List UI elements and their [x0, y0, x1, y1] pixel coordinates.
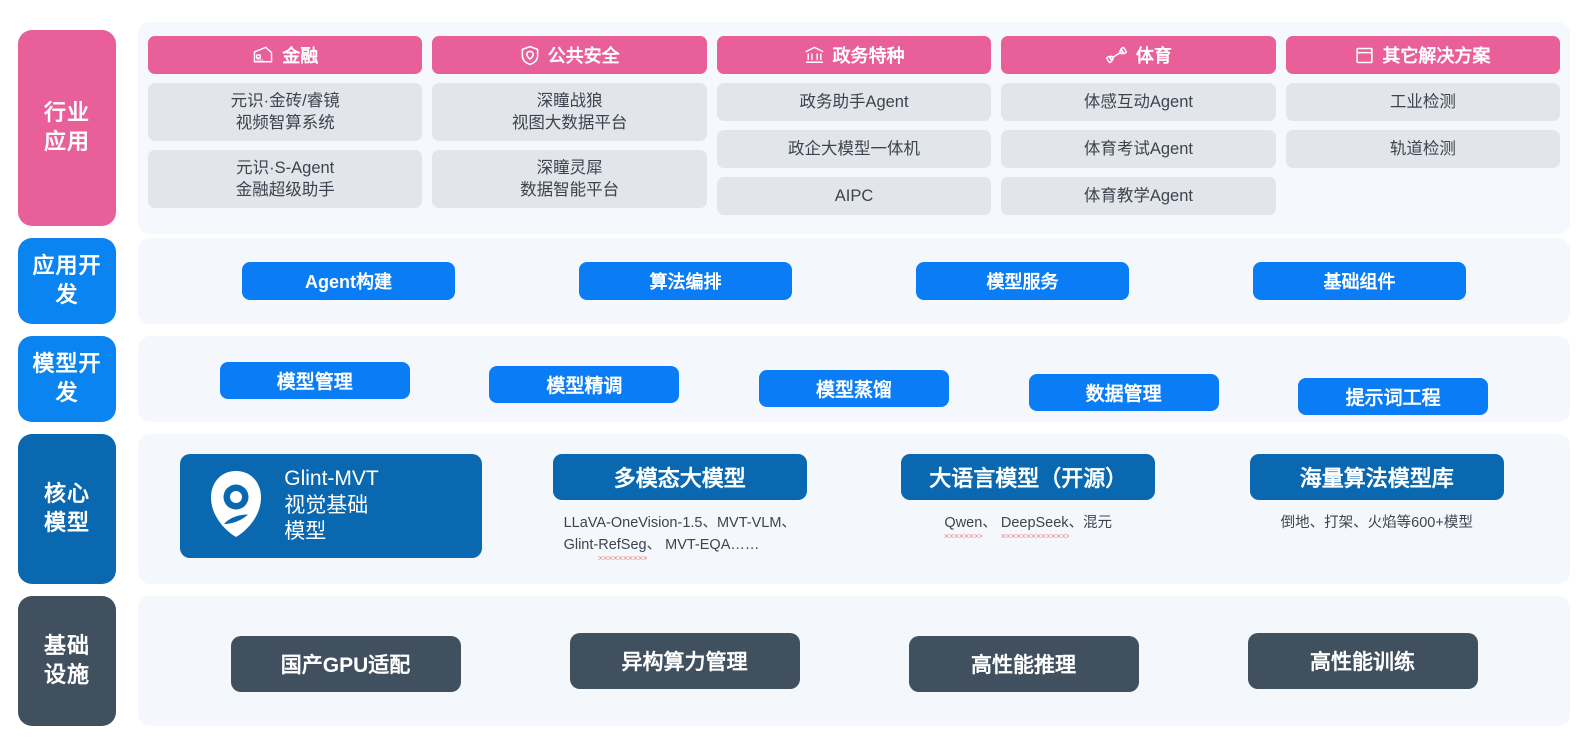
- industry-item[interactable]: 轨道检测: [1286, 130, 1560, 168]
- core-model-multimodal-button[interactable]: 多模态大模型: [553, 454, 807, 500]
- core-model-llm-sub-mid: 、: [982, 515, 1001, 531]
- infrastructure-row: 国产GPU适配 异构算力管理 高性能推理 高性能训练: [138, 596, 1570, 726]
- infrastructure-slot: 国产GPU适配: [176, 630, 515, 692]
- industry-header-other-solutions-label: 其它解决方案: [1382, 42, 1490, 68]
- infrastructure-slot: 高性能训练: [1193, 633, 1532, 689]
- industry-header-sports[interactable]: 体育: [1001, 36, 1275, 74]
- core-model-algorithm-library-button[interactable]: 海量算法模型库: [1250, 454, 1504, 500]
- core-model-llm-sub-qwen: Qwen: [944, 513, 982, 535]
- model-dev-button[interactable]: 模型蒸馏: [759, 370, 949, 407]
- industry-column-government: 政务特种 政务助手Agent 政企大模型一体机 AIPC: [717, 36, 991, 234]
- credit-card-icon: [252, 45, 274, 65]
- app-dev-button[interactable]: 算法编排: [579, 262, 792, 300]
- rail-model-development-label: 模型开 发: [32, 350, 101, 407]
- app-dev-slot: 算法编排: [517, 262, 854, 300]
- infrastructure-button[interactable]: 高性能训练: [1248, 633, 1478, 689]
- glint-mvt-card[interactable]: Glint-MVT 视觉基础 模型: [180, 454, 482, 558]
- model-dev-slot: 数据管理: [989, 348, 1259, 411]
- model-dev-button[interactable]: 模型管理: [220, 362, 410, 399]
- glint-mvt-label: Glint-MVT 视觉基础 模型: [284, 466, 379, 545]
- core-model-llm-sub-post: 、混元: [1069, 515, 1113, 531]
- industry-item[interactable]: 元识·S-Agent 金融超级助手: [148, 150, 422, 208]
- app-development-row: Agent构建 算法编排 模型服务 基础组件: [138, 238, 1570, 324]
- industry-item[interactable]: 元识·金砖/睿镜 视频智算系统: [148, 83, 422, 141]
- core-model-multimodal-sub-misspelled: RefSeg: [598, 535, 646, 557]
- industry-header-finance-label: 金融: [282, 42, 318, 68]
- model-dev-button[interactable]: 提示词工程: [1298, 378, 1488, 415]
- app-dev-slot: 模型服务: [854, 262, 1191, 300]
- industry-item[interactable]: 深瞳灵犀 数据智能平台: [432, 150, 706, 208]
- rail-app-development[interactable]: 应用开 发: [18, 238, 116, 324]
- industry-column-public-security: 公共安全 深瞳战狼 视图大数据平台 深瞳灵犀 数据智能平台: [432, 36, 706, 234]
- industry-item[interactable]: 政企大模型一体机: [717, 130, 991, 168]
- rail-industry[interactable]: 行业 应用: [18, 30, 116, 226]
- app-dev-button[interactable]: 基础组件: [1253, 262, 1466, 300]
- core-model-row: Glint-MVT 视觉基础 模型 多模态大模型 LLaVA-OneVision…: [138, 434, 1570, 584]
- core-model-multimodal-subtitle: LLaVA-OneVision-1.5、MVT-VLM、 Glint-RefSe…: [564, 513, 796, 557]
- industry-columns: 金融 元识·金砖/睿镜 视频智算系统 元识·S-Agent 金融超级助手 公共安…: [138, 22, 1570, 234]
- shield-icon: [520, 45, 540, 66]
- app-dev-button[interactable]: 模型服务: [916, 262, 1129, 300]
- core-model-slot-multimodal: 多模态大模型 LLaVA-OneVision-1.5、MVT-VLM、 Glin…: [515, 448, 846, 557]
- model-dev-button[interactable]: 数据管理: [1029, 374, 1219, 411]
- app-dev-button[interactable]: Agent构建: [242, 262, 455, 300]
- core-model-slot-algorithm-library: 海量算法模型库 倒地、打架、火焰等600+模型: [1212, 448, 1543, 535]
- model-dev-slot: 模型精调: [450, 356, 720, 403]
- industry-item[interactable]: 体育教学Agent: [1001, 177, 1275, 215]
- app-dev-slot: 基础组件: [1191, 262, 1528, 300]
- industry-item[interactable]: 工业检测: [1286, 83, 1560, 121]
- industry-header-public-security[interactable]: 公共安全: [432, 36, 706, 74]
- core-model-algorithm-library-subtitle: 倒地、打架、火焰等600+模型: [1281, 513, 1473, 535]
- rail-industry-label: 行业 应用: [44, 99, 90, 156]
- window-icon: [1355, 46, 1374, 65]
- infrastructure-button[interactable]: 异构算力管理: [570, 633, 800, 689]
- industry-column-finance: 金融 元识·金砖/睿镜 视频智算系统 元识·S-Agent 金融超级助手: [148, 36, 422, 234]
- infrastructure-button[interactable]: 高性能推理: [909, 636, 1139, 692]
- model-dev-button[interactable]: 模型精调: [489, 366, 679, 403]
- industry-header-public-security-label: 公共安全: [548, 42, 620, 68]
- rail-model-development[interactable]: 模型开 发: [18, 336, 116, 422]
- industry-item[interactable]: 体育考试Agent: [1001, 130, 1275, 168]
- app-dev-slot: Agent构建: [180, 262, 517, 300]
- industry-item[interactable]: 政务助手Agent: [717, 83, 991, 121]
- model-development-row: 模型管理 模型精调 模型蒸馏 数据管理 提示词工程: [138, 336, 1570, 422]
- industry-header-government[interactable]: 政务特种: [717, 36, 991, 74]
- core-model-slot-glint: Glint-MVT 视觉基础 模型: [166, 448, 497, 558]
- industry-header-sports-label: 体育: [1136, 42, 1172, 68]
- industry-header-other-solutions[interactable]: 其它解决方案: [1286, 36, 1560, 74]
- model-dev-slot: 模型蒸馏: [719, 352, 989, 407]
- model-dev-slot: 提示词工程: [1258, 344, 1528, 415]
- dumbbell-icon: [1105, 45, 1128, 65]
- industry-item[interactable]: 体感互动Agent: [1001, 83, 1275, 121]
- rail-core-model[interactable]: 核心 模型: [18, 434, 116, 584]
- rail-core-model-label: 核心 模型: [44, 480, 90, 537]
- industry-column-sports: 体育 体感互动Agent 体育考试Agent 体育教学Agent: [1001, 36, 1275, 234]
- industry-item[interactable]: 深瞳战狼 视图大数据平台: [432, 83, 706, 141]
- core-model-multimodal-sub-post: 、 MVT-EQA……: [647, 537, 760, 553]
- industry-header-government-label: 政务特种: [833, 42, 905, 68]
- core-model-llm-button[interactable]: 大语言模型（开源）: [901, 454, 1155, 500]
- industry-item[interactable]: AIPC: [717, 177, 991, 215]
- core-model-llm-subtitle: Qwen、 DeepSeek、混元: [944, 513, 1112, 535]
- bank-icon: [804, 45, 825, 65]
- industry-column-other-solutions: 其它解决方案 工业检测 轨道检测: [1286, 36, 1560, 234]
- industry-header-finance[interactable]: 金融: [148, 36, 422, 74]
- rail-infrastructure[interactable]: 基础 设施: [18, 596, 116, 726]
- architecture-diagram: 行业 应用 应用开 发 模型开 发 核心 模型 基础 设施: [0, 0, 1586, 748]
- infrastructure-slot: 高性能推理: [854, 630, 1193, 692]
- model-dev-slot: 模型管理: [180, 360, 450, 399]
- rail-infrastructure-label: 基础 设施: [44, 632, 90, 689]
- infrastructure-slot: 异构算力管理: [515, 633, 854, 689]
- core-model-slot-llm: 大语言模型（开源） Qwen、 DeepSeek、混元: [863, 448, 1194, 535]
- glint-pin-logo-icon: [204, 468, 268, 545]
- rail-app-development-label: 应用开 发: [32, 252, 101, 309]
- infrastructure-button[interactable]: 国产GPU适配: [231, 636, 461, 692]
- core-model-llm-sub-deepseek: DeepSeek: [1001, 513, 1069, 535]
